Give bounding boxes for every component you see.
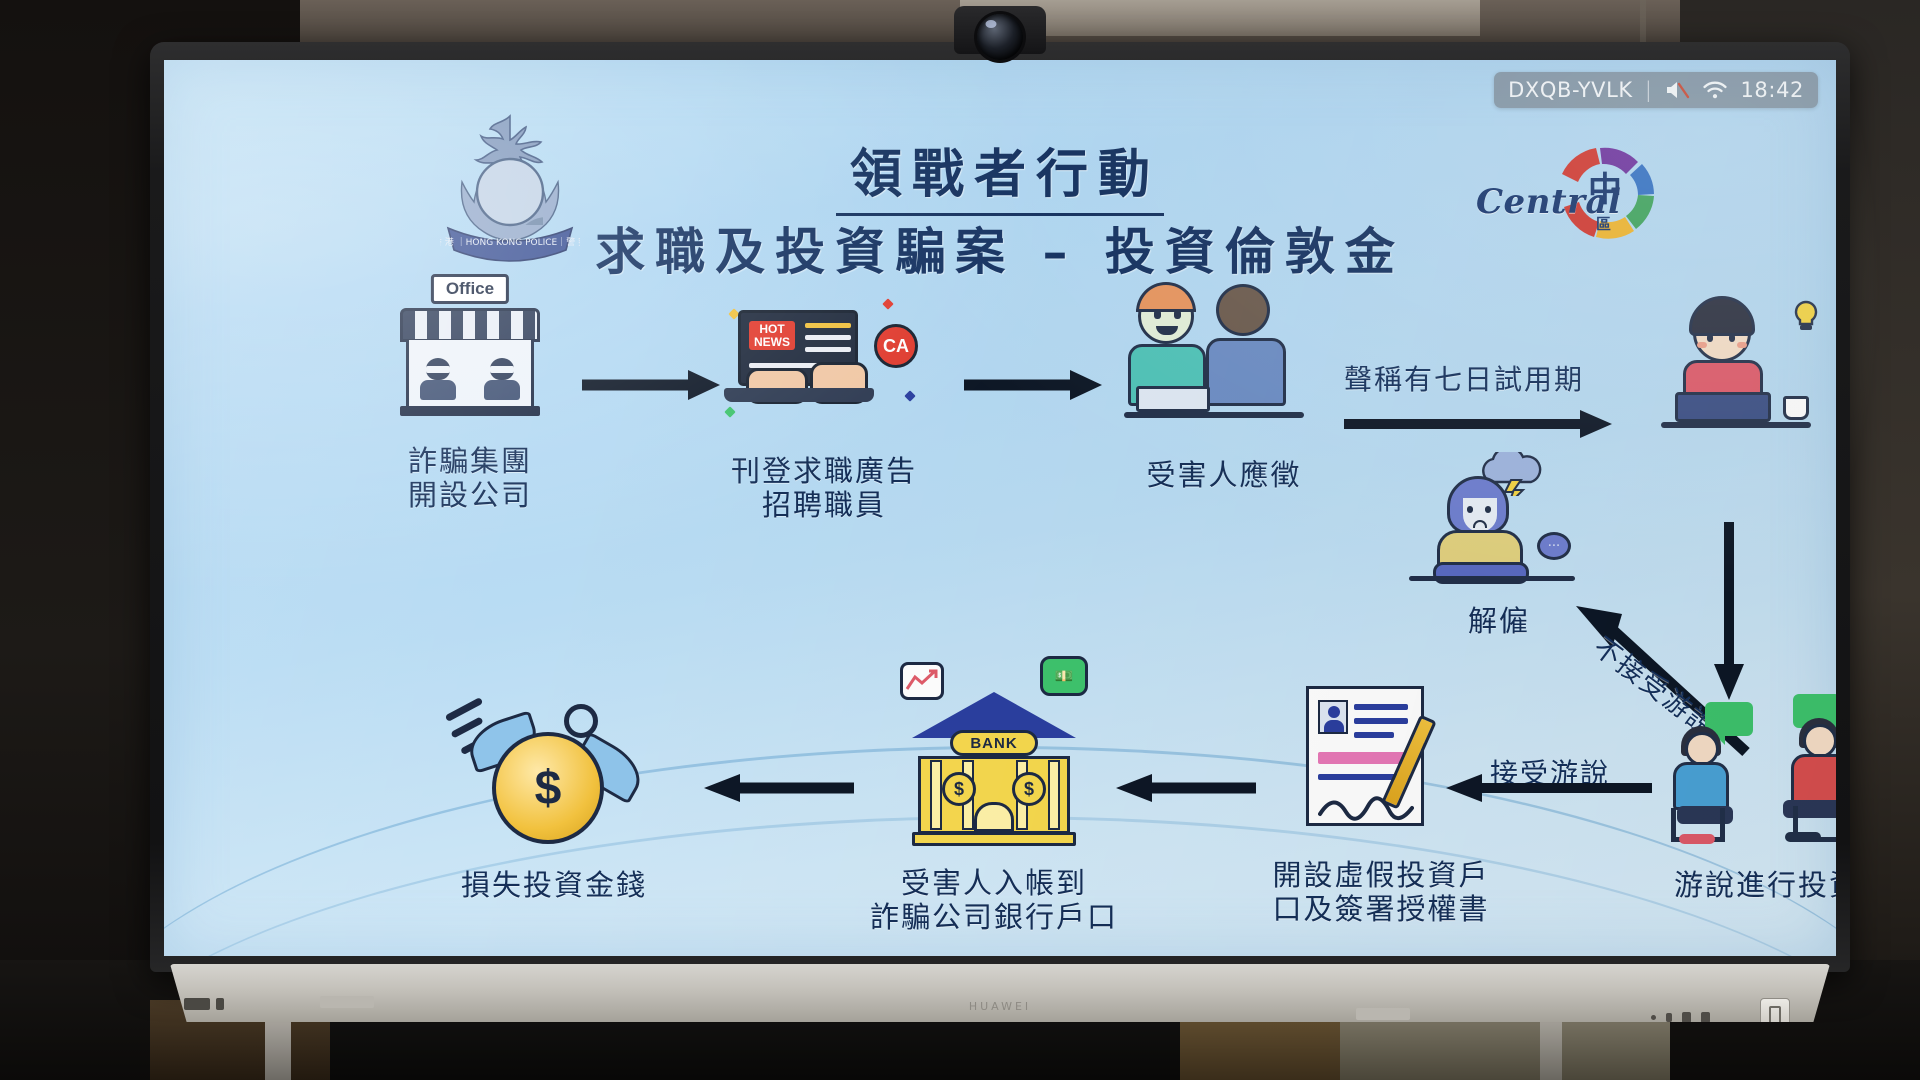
bezel-label-left [320, 996, 374, 1008]
sparkle-2 [882, 298, 893, 309]
sad-eye-l [1467, 506, 1473, 513]
node-caption: 詐騙集團 開設公司 [340, 444, 600, 512]
slide-title: 領戰者行動 [164, 132, 1836, 207]
huawei-logo: HUAWEI [969, 1000, 1031, 1013]
display-bezel: DXQB-YVLK | [150, 42, 1850, 972]
bank-label: BANK [950, 730, 1038, 756]
doc-line-3 [1354, 732, 1394, 738]
coffee-cup-icon [1783, 396, 1809, 420]
node-caption: 刊登求職廣告 招聘職員 [674, 454, 974, 522]
bank-door [974, 802, 1014, 832]
woman-cheek-r [1737, 342, 1747, 348]
person-b-head [1216, 284, 1270, 336]
woman-eye-r [1729, 334, 1735, 342]
bank-column-4 [1048, 760, 1060, 830]
person-right-body [1791, 754, 1836, 804]
coin-ring [564, 704, 598, 738]
clock-label: 18:42 [1740, 78, 1804, 102]
shop-base [400, 406, 540, 416]
port-small-left[interactable] [216, 998, 224, 1010]
flying-coin-icon: $ [444, 680, 664, 850]
bezel-label-right [1356, 1008, 1410, 1020]
wifi-icon[interactable] [1702, 80, 1728, 100]
sparkle-4 [724, 406, 735, 417]
shop-awning [400, 308, 540, 342]
document-sign-icon [1296, 686, 1466, 846]
webcam-glint [986, 20, 997, 28]
status-bar[interactable]: DXQB-YVLK | [1494, 72, 1818, 108]
thief-figure-right [484, 358, 520, 400]
node-caption: 損失投資金錢 [414, 868, 694, 902]
ground-line [1409, 576, 1575, 581]
person-right-head [1803, 724, 1836, 758]
ad-line-2 [805, 335, 851, 340]
woman-hair [1689, 296, 1755, 336]
port-usb-left[interactable] [184, 998, 210, 1010]
person-left-head [1685, 732, 1719, 766]
woman-laptop [1675, 392, 1771, 422]
bank-base [912, 832, 1076, 846]
sad-person-icon: ··· [1409, 458, 1589, 598]
desk-line [1661, 422, 1811, 428]
sad-speech-bubble: ··· [1537, 532, 1571, 560]
woman-cheek-l [1697, 342, 1707, 348]
node-victim-applies: 受害人應徵 [1094, 282, 1354, 492]
two-people-laptop-icon [1124, 282, 1324, 432]
node-caption: 開設虛假投資戶 口及簽署授權書 [1256, 858, 1506, 926]
status-divider: | [1645, 78, 1653, 102]
victim-laptop [1136, 386, 1210, 412]
idea-bulb-icon [1791, 300, 1821, 334]
coin-window-right: $ [1012, 772, 1046, 806]
node-caption: 游說進行投資 [1642, 868, 1836, 902]
display-screen[interactable]: DXQB-YVLK | [164, 60, 1836, 956]
node-persuaded-invest: 游說進行投資 [1642, 700, 1836, 902]
huawei-interactive-display[interactable]: DXQB-YVLK | [150, 12, 1850, 1022]
doc-line-2 [1354, 718, 1408, 724]
woman-eye-l [1707, 334, 1713, 342]
person-a-hair [1136, 282, 1196, 312]
doc-line-pink [1318, 752, 1410, 764]
storefront-icon: Office [400, 274, 540, 420]
sparkle-3 [904, 390, 915, 401]
node-fake-account: 開設虛假投資戶 口及簽署授權書 [1256, 686, 1506, 926]
shoe-left [1679, 834, 1715, 844]
node-money-lost: $ 損失投資金錢 [414, 680, 694, 902]
laptop-base [724, 388, 874, 402]
two-people-talking-icon [1667, 700, 1836, 860]
money-badge-icon: 💵 [1040, 656, 1088, 696]
port-cluster-right[interactable] [1651, 1012, 1710, 1023]
doc-line-1 [1354, 704, 1408, 710]
node-caption: 受害人入帳到 詐騙公司銀行戶口 [864, 866, 1124, 934]
display-bottom-bar: HUAWEI [170, 964, 1830, 1022]
person-b-body [1206, 338, 1286, 406]
person-a-eye-r [1174, 310, 1181, 319]
ad-line-3 [805, 347, 851, 352]
photo-body [1324, 720, 1344, 732]
sad-mouth [1473, 520, 1487, 528]
node-bank-transfer: 💵 BANK $ $ 受害人入帳到 詐騙公司銀行戶口 [864, 676, 1124, 934]
presentation-slide: DXQB-YVLK | [164, 60, 1836, 956]
gold-coin: $ [492, 732, 604, 844]
edge-label-trial-period: 聲稱有七日試用期 [1344, 358, 1584, 398]
arrow-2 [964, 368, 1104, 406]
hot-news-badge: HOTNEWS [749, 321, 795, 350]
office-sign: Office [431, 274, 509, 304]
bank-icon: 💵 BANK $ $ [912, 676, 1076, 852]
coin-window-left: $ [942, 772, 976, 806]
node-caption: 受害人應徵 [1094, 458, 1354, 492]
node-job-ad: HOTNEWS CA 刊登求職廣告 招聘職員 [674, 296, 974, 522]
arrow-6 [1116, 772, 1256, 808]
shoe-right [1785, 832, 1821, 842]
arrow-3 [1344, 408, 1614, 444]
desk-line [1124, 412, 1304, 418]
laptop-job-ad-icon: HOTNEWS CA [724, 296, 924, 436]
ad-line-1 [805, 323, 851, 328]
thief-figure-left [420, 358, 456, 400]
bank-column-1 [930, 760, 942, 830]
person-left-body [1673, 762, 1729, 810]
woman-laptop-idea-icon [1649, 300, 1836, 450]
node-fraud-company: Office 詐騙集團 開設公司 [340, 274, 600, 512]
webcam-lens-icon [977, 14, 1023, 60]
device-code-label: DXQB-YVLK [1508, 78, 1633, 102]
arrow-7 [704, 772, 854, 808]
ca-badge-icon: CA [874, 324, 918, 368]
person-a-eye-l [1154, 310, 1161, 319]
speaker-muted-icon[interactable] [1664, 79, 1690, 101]
node-onboarded [1634, 300, 1836, 450]
photo-head [1328, 706, 1340, 718]
sad-eye-r [1485, 506, 1491, 513]
document-photo [1318, 700, 1348, 734]
